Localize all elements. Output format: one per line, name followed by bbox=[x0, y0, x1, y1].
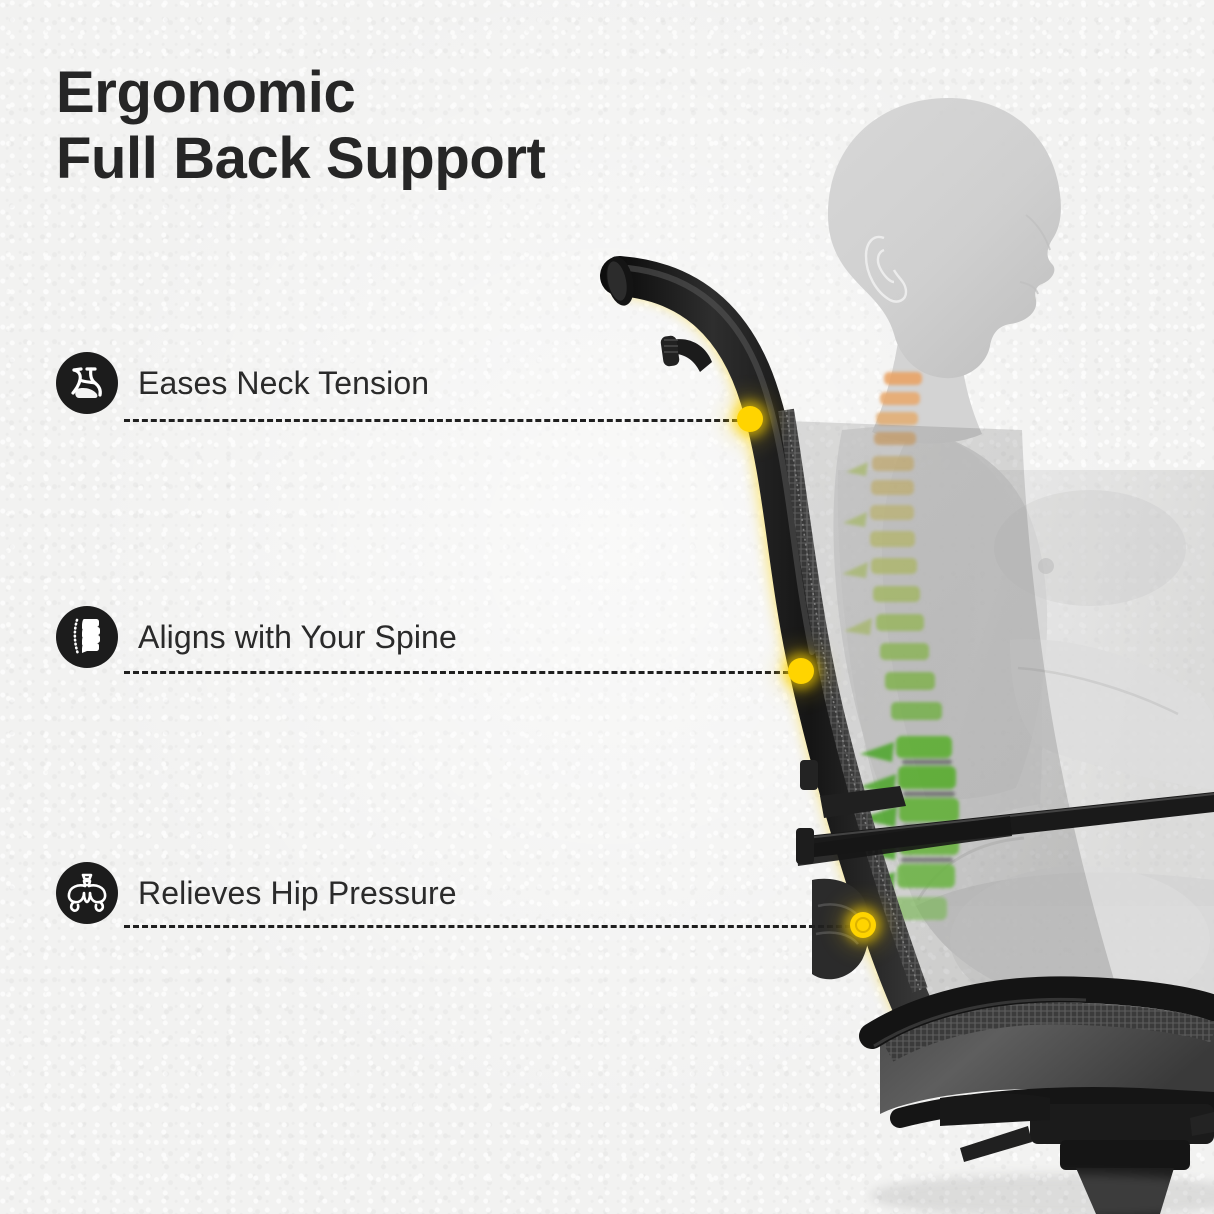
neck-icon bbox=[56, 352, 118, 414]
feature-label-neck: Eases Neck Tension bbox=[138, 365, 429, 402]
feature-item-spine: Aligns with Your Spine bbox=[56, 606, 457, 668]
connector-line-hip bbox=[124, 925, 851, 928]
spine-vertebrae-icon bbox=[56, 606, 118, 668]
callout-dot-hip bbox=[850, 912, 876, 938]
connector-line-spine bbox=[124, 671, 789, 674]
connector-line-neck bbox=[124, 419, 738, 422]
feature-item-neck: Eases Neck Tension bbox=[56, 352, 429, 414]
page-title: Ergonomic Full Back Support bbox=[56, 60, 545, 192]
callout-dot-neck bbox=[737, 406, 763, 432]
callout-dot-spine bbox=[788, 658, 814, 684]
feature-label-spine: Aligns with Your Spine bbox=[138, 619, 457, 656]
feature-item-hip: Relieves Hip Pressure bbox=[56, 862, 457, 924]
pelvis-icon bbox=[56, 862, 118, 924]
feature-label-hip: Relieves Hip Pressure bbox=[138, 875, 457, 912]
infographic-page: Ergonomic Full Back Support Eases Neck T… bbox=[0, 0, 1214, 1214]
